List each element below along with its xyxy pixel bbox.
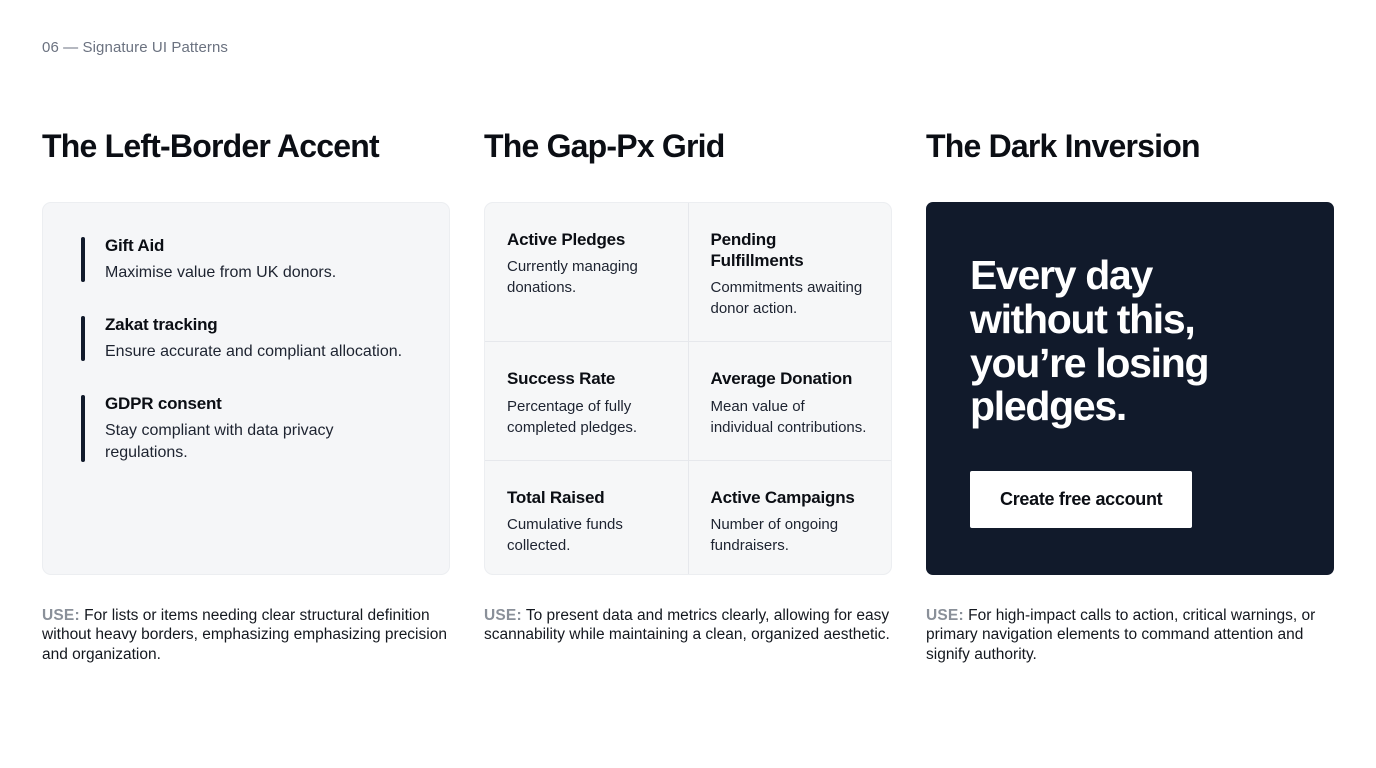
list-item-description: Maximise value from UK donors. (105, 262, 405, 284)
metric-cell[interactable]: Average Donation Mean value of individua… (689, 342, 892, 459)
use-note: USE: For lists or items needing clear st… (42, 606, 450, 665)
metric-cell[interactable]: Success Rate Percentage of fully complet… (485, 342, 688, 459)
column-dark-inversion: The Dark Inversion Every day without thi… (926, 128, 1334, 665)
left-border-accent-card: Gift Aid Maximise value from UK donors. … (42, 202, 450, 575)
list-item-description: Stay compliant with data privacy regulat… (105, 420, 405, 464)
column-title: The Dark Inversion (926, 128, 1334, 165)
metric-cell[interactable]: Total Raised Cumulative funds collected. (485, 461, 688, 575)
metric-description: Mean value of individual contributions. (711, 396, 870, 438)
use-note: USE: To present data and metrics clearly… (484, 606, 892, 645)
column-title: The Left-Border Accent (42, 128, 450, 165)
accent-list: Gift Aid Maximise value from UK donors. … (81, 235, 421, 465)
metric-title: Active Pledges (507, 229, 666, 250)
metric-description: Number of ongoing fundraisers. (711, 514, 870, 556)
metric-description: Cumulative funds collected. (507, 514, 666, 556)
metric-title: Success Rate (507, 368, 666, 389)
list-item[interactable]: Zakat tracking Ensure accurate and compl… (81, 314, 421, 363)
metric-cell[interactable]: Pending Fulfillments Commitments awaitin… (689, 203, 892, 342)
use-label: USE: (484, 607, 522, 624)
list-item-title: GDPR consent (105, 393, 421, 415)
metric-title: Total Raised (507, 487, 666, 508)
left-accent-bar-icon (81, 237, 85, 282)
list-item-title: Zakat tracking (105, 314, 421, 336)
metric-cell[interactable]: Active Campaigns Number of ongoing fundr… (689, 461, 892, 575)
list-item-title: Gift Aid (105, 235, 421, 257)
metric-description: Commitments awaiting donor action. (711, 277, 870, 319)
metric-description: Percentage of fully completed pledges. (507, 396, 666, 438)
left-accent-bar-icon (81, 395, 85, 462)
page-root: 06 — Signature UI Patterns The Left-Bord… (0, 0, 1376, 768)
list-item[interactable]: GDPR consent Stay compliant with data pr… (81, 393, 421, 464)
use-label: USE: (42, 607, 80, 624)
metric-cell[interactable]: Active Pledges Currently managing donati… (485, 203, 688, 342)
left-accent-bar-icon (81, 316, 85, 361)
use-text: To present data and metrics clearly, all… (484, 607, 890, 644)
column-left-border-accent: The Left-Border Accent Gift Aid Maximise… (42, 128, 450, 665)
create-free-account-button[interactable]: Create free account (970, 471, 1192, 528)
pattern-columns: The Left-Border Accent Gift Aid Maximise… (42, 128, 1334, 665)
list-item[interactable]: Gift Aid Maximise value from UK donors. (81, 235, 421, 284)
list-item-description: Ensure accurate and compliant allocation… (105, 341, 405, 363)
metric-title: Average Donation (711, 368, 870, 389)
column-title: The Gap-Px Grid (484, 128, 892, 165)
dark-card-headline: Every day without this, you’re losing pl… (970, 254, 1290, 429)
use-note: USE: For high-impact calls to action, cr… (926, 606, 1334, 665)
use-text: For high-impact calls to action, critica… (926, 607, 1315, 663)
use-label: USE: (926, 607, 964, 624)
dark-inversion-card: Every day without this, you’re losing pl… (926, 202, 1334, 575)
gap-px-grid-card: Active Pledges Currently managing donati… (484, 202, 892, 575)
section-eyebrow: 06 — Signature UI Patterns (42, 39, 228, 56)
metric-title: Active Campaigns (711, 487, 870, 508)
metric-description: Currently managing donations. (507, 256, 666, 298)
metric-title: Pending Fulfillments (711, 229, 870, 272)
use-text: For lists or items needing clear structu… (42, 607, 447, 663)
column-gap-px-grid: The Gap-Px Grid Active Pledges Currently… (484, 128, 892, 665)
